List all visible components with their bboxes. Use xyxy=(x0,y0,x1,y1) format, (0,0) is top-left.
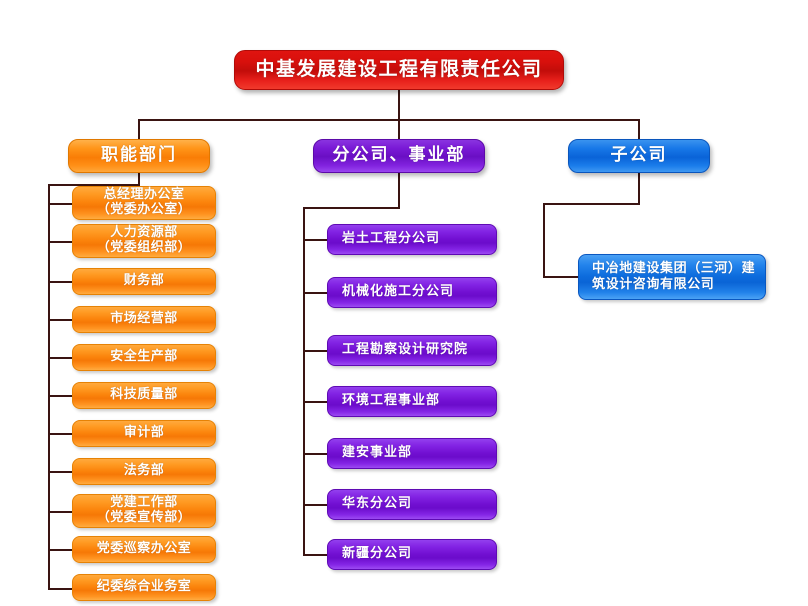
connector-branches-branch xyxy=(303,453,327,455)
node-branch-geotechnical-engineering[interactable]: 岩土工程分公司 xyxy=(327,224,497,255)
connector-branches-branch xyxy=(303,401,327,403)
node-head-functional-departments[interactable]: 职能部门 xyxy=(68,139,210,173)
connector-branches-branch xyxy=(303,350,327,352)
connector-subsidiaries-trunk xyxy=(543,203,545,277)
connector-branches-branch xyxy=(303,504,327,506)
node-root-company[interactable]: 中基发展建设工程有限责任公司 xyxy=(234,50,564,90)
connector-branches-branch xyxy=(303,239,327,241)
connector-level2-bus xyxy=(138,119,640,121)
connector-subsidiaries-elbow-top xyxy=(543,203,640,205)
connector-functional-branch xyxy=(48,433,72,435)
node-functional-safety-production[interactable]: 安全生产部 xyxy=(72,344,216,371)
connector-functional-branch xyxy=(48,357,72,359)
node-head-subsidiaries[interactable]: 子公司 xyxy=(568,139,710,173)
node-functional-human-resources[interactable]: 人力资源部 （党委组织部） xyxy=(72,224,216,258)
connector-branches-branch xyxy=(303,554,327,556)
node-functional-technology-quality[interactable]: 科技质量部 xyxy=(72,382,216,409)
node-branch-xinjiang[interactable]: 新疆分公司 xyxy=(327,539,497,570)
node-branch-east-china[interactable]: 华东分公司 xyxy=(327,489,497,520)
node-branch-survey-design-institute[interactable]: 工程勘察设计研究院 xyxy=(327,335,497,366)
connector-functional-branch xyxy=(48,319,72,321)
node-subsidiary-sanhe-design-consulting[interactable]: 中冶地建设集团（三河）建筑设计咨询有限公司 xyxy=(578,254,766,300)
connector-functional-branch xyxy=(48,241,72,243)
connector-subsidiaries-stem xyxy=(638,173,640,204)
node-functional-discipline-inspection-office[interactable]: 纪委综合业务室 xyxy=(72,574,216,601)
connector-branches-branch xyxy=(303,292,327,294)
node-head-branches-and-divisions[interactable]: 分公司、事业部 xyxy=(313,139,485,173)
connector-functional-branch xyxy=(48,395,72,397)
connector-functional-branch xyxy=(48,511,72,513)
node-functional-party-building[interactable]: 党建工作部 （党委宣传部） xyxy=(72,494,216,528)
connector-branches-elbow xyxy=(303,207,400,209)
node-branch-mechanized-construction[interactable]: 机械化施工分公司 xyxy=(327,277,497,308)
connector-branches-trunk xyxy=(303,207,305,555)
connector-subsidiaries-branch xyxy=(543,276,578,278)
connector-functional-branch xyxy=(48,471,72,473)
connector-functional-branch xyxy=(48,588,72,590)
connector-functional-branch xyxy=(48,549,72,551)
node-branch-construction-installation[interactable]: 建安事业部 xyxy=(327,438,497,469)
node-functional-finance[interactable]: 财务部 xyxy=(72,268,216,295)
connector-functional-branch xyxy=(48,203,72,205)
connector-functional-trunk xyxy=(48,184,50,589)
node-functional-market-operations[interactable]: 市场经营部 xyxy=(72,306,216,333)
node-functional-general-managers-office[interactable]: 总经理办公室 （党委办公室） xyxy=(72,186,216,220)
connector-functional-branch xyxy=(48,281,72,283)
node-branch-environmental-engineering[interactable]: 环境工程事业部 xyxy=(327,386,497,417)
node-functional-audit[interactable]: 审计部 xyxy=(72,420,216,447)
connector-branches-stem xyxy=(398,173,400,208)
node-functional-party-inspection-office[interactable]: 党委巡察办公室 xyxy=(72,536,216,563)
org-chart: 中基发展建设工程有限责任公司 职能部门 分公司、事业部 子公司 总经理办公室 （… xyxy=(0,0,808,606)
node-functional-legal-affairs[interactable]: 法务部 xyxy=(72,458,216,485)
